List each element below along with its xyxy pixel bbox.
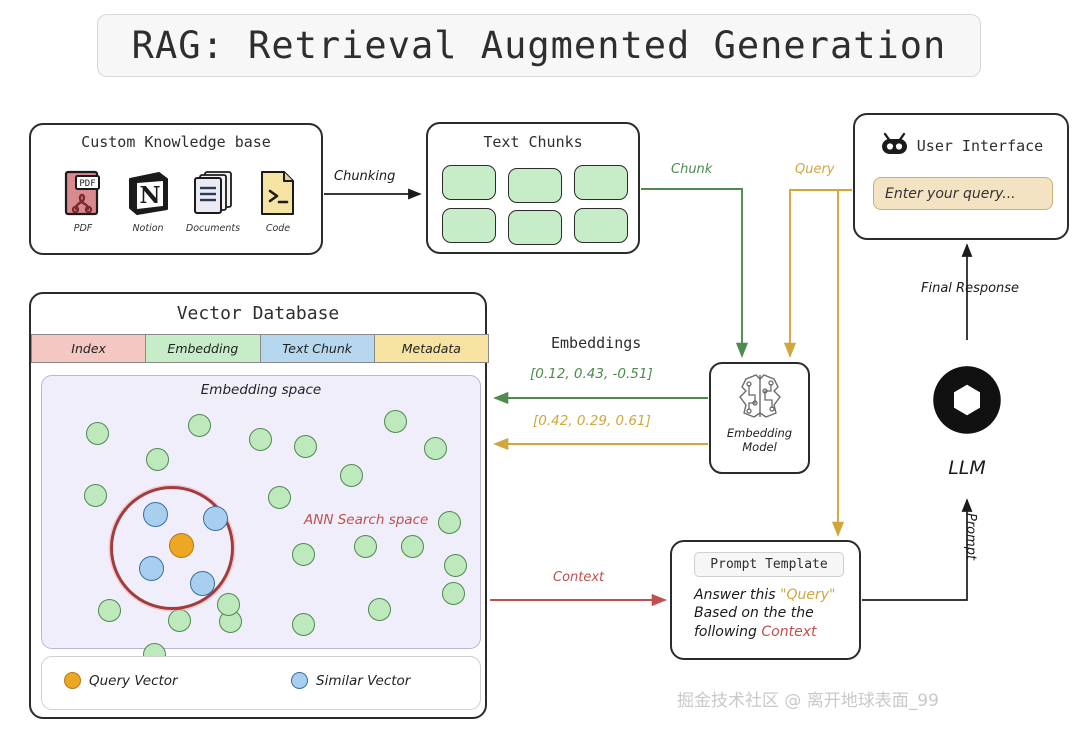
arrow-label-prompt: Prompt — [963, 513, 978, 560]
vector-dot-similar — [190, 571, 215, 596]
documents-stack-icon — [181, 165, 245, 221]
query-input[interactable]: Enter your query... — [873, 177, 1053, 210]
svg-text:PDF: PDF — [79, 179, 95, 189]
prompt-template-line-3: following Context — [694, 623, 854, 641]
vector-dot-other — [86, 422, 109, 445]
vector-dot-other — [340, 464, 363, 487]
llm-label: LLM — [906, 457, 1028, 479]
similar-vector-swatch — [291, 672, 308, 689]
text-chunk-1 — [442, 165, 496, 200]
arrow-label-query: Query — [795, 162, 835, 177]
arrow-label-context: Context — [553, 570, 604, 585]
pdf-file-icon: PDF — [51, 165, 115, 221]
kb-item-code[interactable]: Code — [246, 165, 310, 234]
vector-database-title: Vector Database — [31, 303, 485, 324]
query-input-placeholder: Enter your query... — [885, 186, 1016, 202]
vdb-column-index: Index — [31, 334, 146, 363]
vector-dot-other — [249, 428, 272, 451]
vector-dot-other — [444, 554, 467, 577]
vector-dot-other — [268, 486, 291, 509]
prompt-template-body: Answer this "Query" Based on the the fol… — [694, 586, 854, 641]
ann-search-space-label: ANN Search space — [304, 512, 428, 528]
vector-database-panel: Vector Database Index Embedding Text Chu… — [29, 292, 487, 719]
robot-face-icon — [879, 131, 910, 160]
kb-item-notion-label: Notion — [116, 223, 180, 234]
watermark: 掘金技术社区 @ 离开地球表面_99 — [677, 686, 939, 711]
vector-database-legend: Query Vector Similar Vector — [41, 656, 481, 710]
text-chunks-panel: Text Chunks — [426, 122, 640, 254]
vector-dot-other — [442, 582, 465, 605]
vdb-column-metadata: Metadata — [375, 334, 489, 363]
embeddings-title: Embeddings — [551, 334, 641, 352]
embedding-model-panel: Embedding Model — [709, 362, 810, 474]
legend-item-query-vector: Query Vector — [64, 672, 178, 689]
query-embedding-vector: [0.42, 0.29, 0.61] — [533, 413, 651, 429]
user-interface-panel: User Interface Enter your query... — [853, 113, 1069, 240]
custom-knowledge-base-panel: Custom Knowledge base PDF PDF N Notion — [29, 123, 323, 255]
prompt-template-panel: Prompt Template Answer this "Query" Base… — [670, 540, 861, 660]
kb-item-documents-label: Documents — [181, 223, 245, 234]
text-chunk-3 — [574, 165, 628, 200]
text-chunks-title: Text Chunks — [428, 133, 638, 151]
vector-dot-query — [169, 533, 194, 558]
text-chunk-5 — [508, 210, 562, 245]
vector-dot-other — [217, 593, 240, 616]
legend-item-similar-vector: Similar Vector — [291, 672, 410, 689]
vector-dot-other — [292, 543, 315, 566]
vector-dot-other — [384, 410, 407, 433]
notion-logo-icon: N — [116, 165, 180, 221]
vdb-column-text-chunk: Text Chunk — [261, 334, 375, 363]
prompt-context-token: Context — [761, 624, 816, 640]
llm-node: LLM — [906, 344, 1028, 494]
vector-dot-other — [438, 511, 461, 534]
prompt-query-token: "Query" — [780, 587, 835, 603]
kb-item-pdf-label: PDF — [51, 223, 115, 234]
vector-dot-similar — [203, 506, 228, 531]
query-vector-swatch — [64, 672, 81, 689]
vdb-column-index-label: Index — [71, 341, 106, 356]
kb-item-documents[interactable]: Documents — [181, 165, 245, 234]
code-file-icon — [246, 165, 310, 221]
vdb-column-text-chunk-label: Text Chunk — [282, 341, 352, 356]
embedding-model-label-line2: Model — [711, 440, 808, 454]
text-chunk-6 — [574, 208, 628, 243]
vector-dot-other — [401, 535, 424, 558]
brain-circuit-icon — [711, 371, 808, 423]
prompt-template-line-1: Answer this "Query" — [694, 586, 854, 604]
vector-dot-other — [368, 598, 391, 621]
vector-dot-other — [354, 535, 377, 558]
chunk-embedding-vector: [0.12, 0.43, -0.51] — [530, 366, 653, 382]
prompt-template-header: Prompt Template — [694, 552, 844, 577]
vector-dot-other — [188, 414, 211, 437]
arrow-label-chunking: Chunking — [334, 169, 395, 184]
vector-dot-other — [424, 437, 447, 460]
legend-similar-vector-label: Similar Vector — [316, 673, 410, 689]
vector-dot-other — [84, 484, 107, 507]
vector-dot-similar — [139, 556, 164, 581]
arrow-label-final-response: Final Response — [921, 281, 1019, 296]
embedding-space-panel: Embedding space ANN Search — [41, 375, 481, 649]
legend-query-vector-label: Query Vector — [89, 673, 178, 689]
embedding-model-label-line1: Embedding — [711, 426, 808, 440]
knowledge-base-title: Custom Knowledge base — [31, 133, 321, 151]
vdb-column-metadata-label: Metadata — [402, 341, 461, 356]
prompt-line1-prefix: Answer this — [694, 587, 780, 603]
embedding-space-title: Embedding space — [42, 382, 480, 398]
svg-text:N: N — [139, 182, 160, 209]
prompt-line3-prefix: following — [694, 624, 761, 640]
vector-dot-other — [294, 435, 317, 458]
vector-dot-similar — [143, 502, 168, 527]
text-chunk-4 — [442, 208, 496, 243]
vdb-column-embedding: Embedding — [146, 334, 260, 363]
vdb-column-embedding-label: Embedding — [167, 341, 238, 356]
user-interface-title: User Interface — [917, 137, 1043, 155]
kb-item-code-label: Code — [246, 223, 310, 234]
vector-dot-other — [98, 599, 121, 622]
vector-dot-other — [168, 609, 191, 632]
prompt-template-line-2: Based on the the — [694, 604, 854, 622]
vector-database-columns: Index Embedding Text Chunk Metadata — [31, 334, 489, 363]
vector-dot-other — [292, 613, 315, 636]
text-chunk-2 — [508, 168, 562, 203]
kb-item-notion[interactable]: N Notion — [116, 165, 180, 234]
kb-item-pdf[interactable]: PDF PDF — [51, 165, 115, 234]
vector-dot-other — [146, 448, 169, 471]
arrow-label-chunk: Chunk — [671, 162, 712, 177]
